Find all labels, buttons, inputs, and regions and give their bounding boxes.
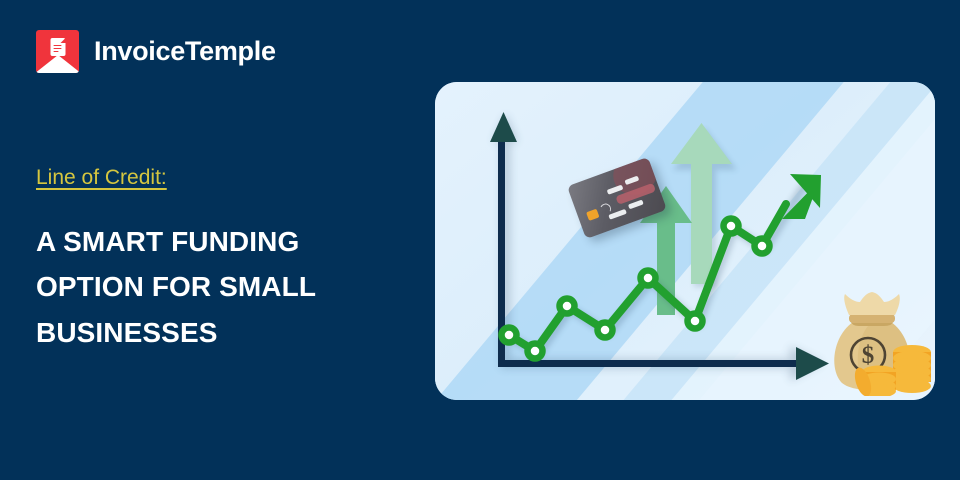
headline-line-3: BUSINESSES <box>36 310 396 355</box>
money-bag-dollar-icon: $ <box>819 292 935 396</box>
page-title: A SMART FUNDING OPTION FOR SMALL BUSINES… <box>36 219 396 355</box>
growth-arrow-large <box>671 123 737 287</box>
brand-lockup[interactable]: InvoiceTemple <box>36 30 276 73</box>
promo-banner: InvoiceTemple Line of Credit: A SMART FU… <box>0 0 960 480</box>
illustration-panel: $ <box>435 82 935 400</box>
svg-text:$: $ <box>862 342 875 369</box>
headline-line-2: OPTION FOR SMALL <box>36 264 396 309</box>
document-temple-logo-icon <box>36 30 79 73</box>
coin-stack-tall <box>893 345 931 393</box>
card-chip-icon <box>586 209 599 221</box>
eyebrow-label: Line of Credit: <box>36 166 167 190</box>
brand-name: InvoiceTemple <box>94 36 276 67</box>
temple-roof-glyph <box>36 55 79 73</box>
headline-line-1: A SMART FUNDING <box>36 219 396 264</box>
document-glyph <box>50 38 65 56</box>
